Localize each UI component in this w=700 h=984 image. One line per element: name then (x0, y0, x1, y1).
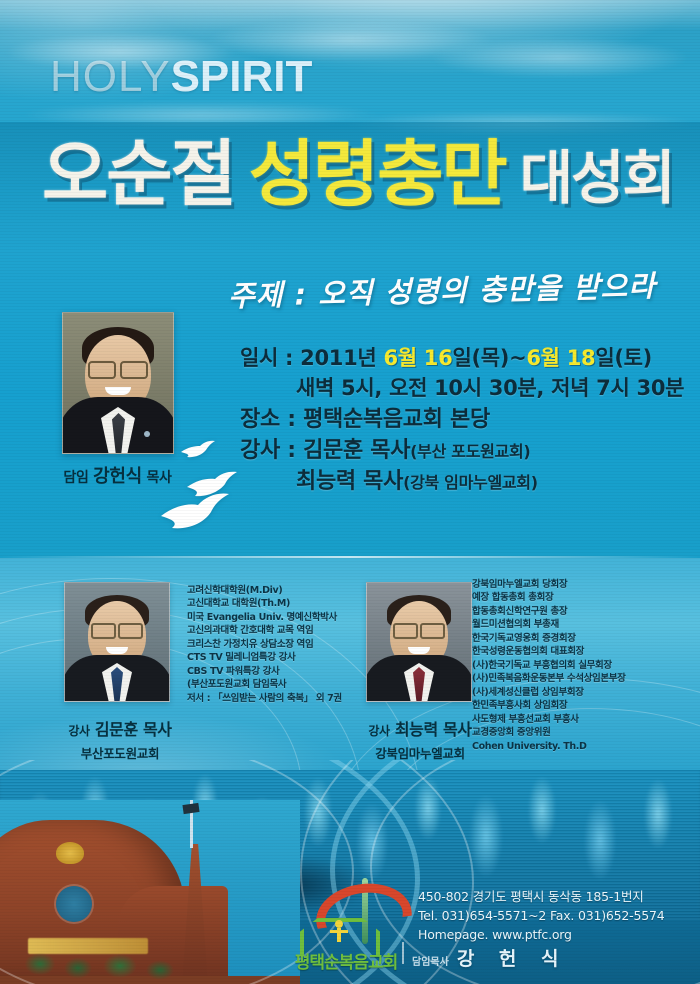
date-from: 6월 16 (383, 346, 452, 370)
credential-line: 크리스찬 가정치유 상담소장 역임 (187, 638, 342, 651)
credential-line: 예장 합동총회 총회장 (472, 591, 626, 604)
credential-line: 저서 : 「쓰임받는 사람의 축복」 외 7권 (187, 692, 342, 705)
speaker-1-caption: 강사 김문훈 목사 부산포도원교회 (25, 716, 215, 762)
speaker-2-name-text: 최능력 (395, 720, 438, 739)
dove-icon-2 (160, 492, 230, 532)
signature-role: 담임목사 (412, 953, 449, 968)
speaker-2-church: (강북 임마누엘교회) (403, 473, 538, 492)
building-trees (0, 950, 300, 984)
pastor-signature: 담임목사 강 헌 식 (412, 944, 567, 971)
host-pastor-name: 강헌식 (93, 466, 142, 487)
title-word-1: 오순절 (42, 138, 235, 210)
building-emblem-icon (56, 842, 84, 864)
smile-shape (106, 647, 128, 654)
contact-homepage: Homepage. www.ptfc.org (418, 926, 665, 945)
speaker-1-role: 강사 (68, 724, 89, 738)
title-word-3: 대성회 (520, 149, 674, 210)
eyebrow-spirit: SPIRIT (171, 52, 313, 101)
date-from-tail: 일(목)~ (452, 346, 526, 370)
detail-row-place: 장소 : 평택순복음교회 본당 (240, 404, 684, 435)
date-to: 6월 18 (526, 346, 595, 370)
credential-line: 한국기독교영웅회 증경회장 (472, 632, 626, 645)
dove-icon-3 (180, 440, 216, 460)
smile-shape (105, 387, 131, 395)
speaker-1-title: 목사 (143, 720, 172, 739)
glasses-icon (393, 623, 445, 635)
credential-line: (사)한국기독교 부흥협의회 실무회장 (472, 659, 626, 672)
credential-line: 고신의과대학 간호대학 교목 역임 (187, 624, 342, 637)
credential-line: CBS TV 파워특강 강사 (187, 665, 342, 678)
credential-line: 합동총회신학연구원 총장 (472, 605, 626, 618)
poster: HOLYSPIRIT 오순절 성령충만 대성회 주제 : 오직 성령의 충만을 … (0, 0, 700, 984)
eyebrow-holy: HOLY (50, 52, 171, 101)
credential-line: 고신대학교 대학원(Th.M) (187, 597, 342, 610)
speaker-1-name: 김문훈 목사 (303, 438, 410, 463)
page-title: 오순절 성령충만 대성회 (42, 138, 674, 210)
speaker-1-church-text: 부산포도원교회 (25, 743, 215, 762)
church-logo: 평택순복음교회 (286, 884, 406, 976)
credential-line: (부산포도원교회 담임목사 (187, 678, 342, 691)
signature-name: 강 헌 식 (457, 944, 568, 971)
lapel-pin-icon (144, 431, 150, 437)
speaker-1-credentials: 고려신학대학원(M.Div)고신대학교 대학원(Th.M)미국 Evangeli… (187, 584, 342, 705)
credential-line: 월드미션협의회 부총재 (472, 618, 626, 631)
credential-line: 미국 Evangelia Univ. 명예신학박사 (187, 611, 342, 624)
speaker-2-church-text: 강북임마누엘교회 (325, 743, 515, 762)
contact-info: 450-802 경기도 평택시 동삭동 185-1번지 Tel. 031)654… (418, 888, 665, 944)
speaker-label: 강사 : (240, 438, 296, 463)
detail-row-speaker-1: 강사 : 김문훈 목사(부산 포도원교회) (240, 435, 684, 466)
speaker-2-role: 강사 (368, 724, 389, 738)
speaker-2-title: 목사 (443, 720, 472, 739)
credential-line: 한국성령운동협의회 대표회장 (472, 645, 626, 658)
speaker-2-name-line: 강사 최능력 목사 (325, 716, 515, 740)
credential-line: 한민족부흥사회 상임회장 (472, 699, 626, 712)
speaker-2-photo (366, 582, 472, 702)
place-label: 장소 : (240, 407, 296, 432)
building-rose-window (56, 886, 92, 922)
speaker-1-name-text: 김문훈 (95, 720, 138, 739)
date-year: 2011년 (300, 346, 376, 370)
credential-line: 고려신학대학원(M.Div) (187, 584, 342, 597)
event-details: 일시 : 2011년 6월 16일(목)~6월 18일(토) 새벽 5시, 오전… (240, 344, 684, 497)
date-to-tail: 일(토) (595, 346, 652, 370)
church-building-photo (0, 800, 300, 984)
speaker-1-name-line: 강사 김문훈 목사 (25, 716, 215, 740)
place-value: 평택순복음교회 본당 (303, 407, 490, 432)
speaker-2-name: 최능력 목사 (296, 469, 403, 494)
logo-name: 평택순복음교회 (286, 948, 406, 973)
glasses-icon (91, 623, 143, 635)
detail-row-date: 일시 : 2011년 6월 16일(목)~6월 18일(토) (240, 344, 684, 374)
smile-shape (408, 647, 430, 654)
glasses-icon (88, 361, 148, 375)
speaker-2-caption: 강사 최능력 목사 강북임마누엘교회 (325, 716, 515, 762)
host-pastor-title: 목사 (146, 470, 171, 486)
contact-address: 450-802 경기도 평택시 동삭동 185-1번지 (418, 888, 665, 907)
title-word-2: 성령충만 (249, 138, 506, 210)
contact-phone: Tel. 031)654-5571~2 Fax. 031)652-5574 (418, 907, 665, 926)
logo-figure-icon (332, 920, 346, 942)
signature-rule (402, 942, 404, 964)
host-pastor-caption: 담임 강헌식 목사 (30, 462, 205, 488)
speaker-1-photo (64, 582, 170, 702)
host-pastor-photo (62, 312, 174, 454)
credential-line: 강북임마누엘교회 당회장 (472, 578, 626, 591)
host-pastor-role: 담임 (63, 470, 88, 486)
speaker-1-church: (부산 포도원교회) (410, 442, 530, 461)
credential-line: CTS TV 밀레니엄특강 강사 (187, 651, 342, 664)
credential-line: (사)민족복음화운동본부 수석상임본부장 (472, 672, 626, 685)
date-label: 일시 : (240, 346, 293, 370)
detail-row-speaker-2: 최능력 목사(강북 임마누엘교회) (240, 466, 684, 497)
detail-row-times: 새벽 5시, 오전 10시 30분, 저녁 7시 30분 (240, 374, 684, 404)
credential-line: (사)세계성신클럽 상임부회장 (472, 686, 626, 699)
eyebrow-holy-spirit: HOLYSPIRIT (50, 52, 312, 102)
